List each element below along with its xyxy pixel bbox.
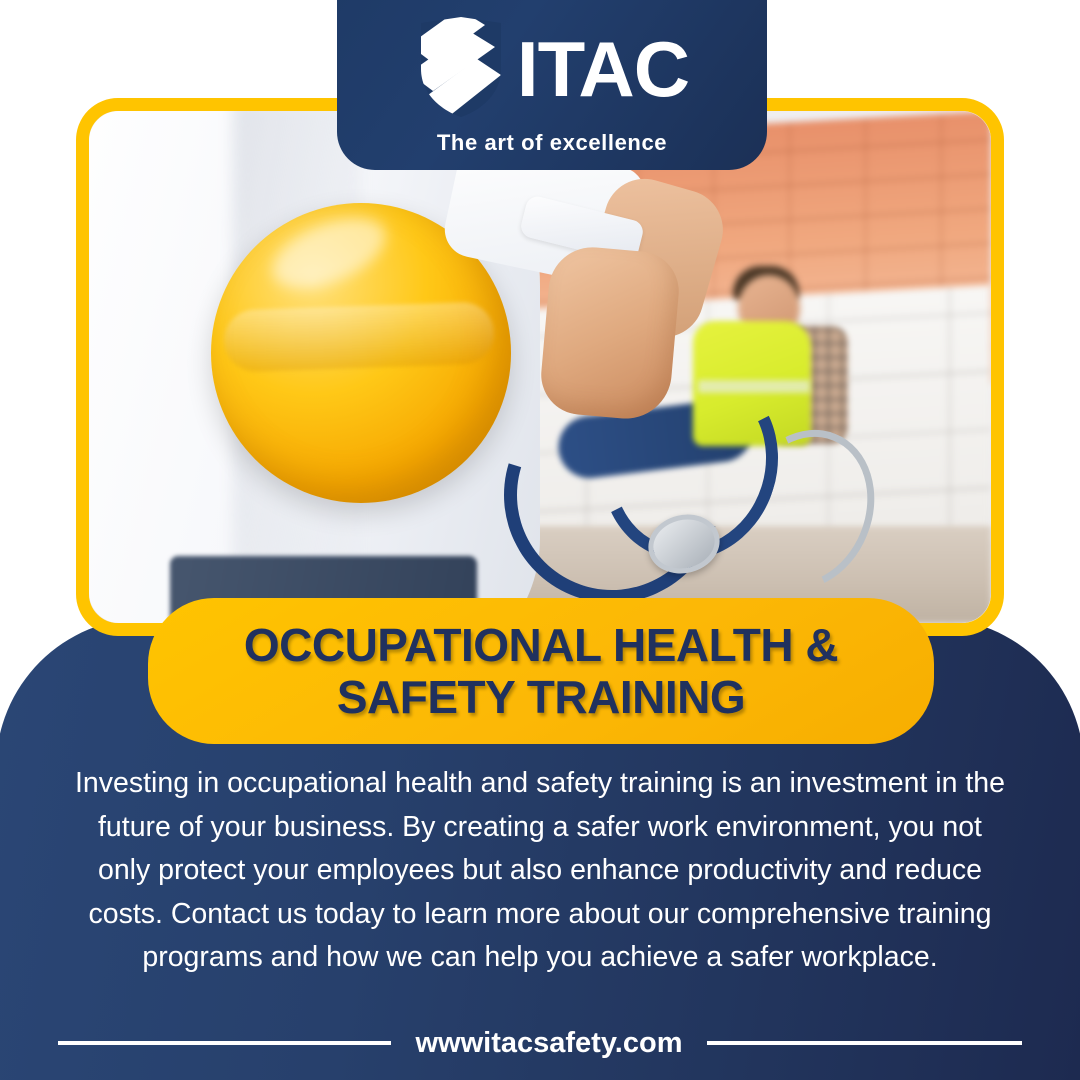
- body-paragraph: Investing in occupational health and saf…: [70, 762, 1010, 980]
- hard-hat-ridge: [223, 301, 495, 372]
- title-banner: OCCUPATIONAL HEALTH & SAFETY TRAINING: [148, 598, 934, 744]
- title-line-2: SAFETY TRAINING: [337, 671, 745, 723]
- poster-canvas: ITAC The art of excellence OCCUPATIONAL …: [0, 0, 1080, 1080]
- brand-tagline: The art of excellence: [437, 130, 667, 156]
- brand-logo-card[interactable]: ITAC The art of excellence: [337, 0, 767, 170]
- hero-photo: [89, 111, 991, 623]
- website-url[interactable]: wwwitacsafety.com: [415, 1027, 682, 1060]
- footer: wwwitacsafety.com: [0, 1022, 1080, 1064]
- footer-divider-left: [58, 1041, 391, 1045]
- logo-row: ITAC: [415, 15, 689, 124]
- footer-divider-right: [707, 1041, 1022, 1045]
- title-line-1: OCCUPATIONAL HEALTH &: [244, 619, 838, 671]
- page-title: OCCUPATIONAL HEALTH & SAFETY TRAINING: [218, 619, 864, 724]
- shield-icon: [415, 15, 507, 124]
- photo-frame: [76, 98, 1004, 636]
- brand-name: ITAC: [517, 34, 689, 106]
